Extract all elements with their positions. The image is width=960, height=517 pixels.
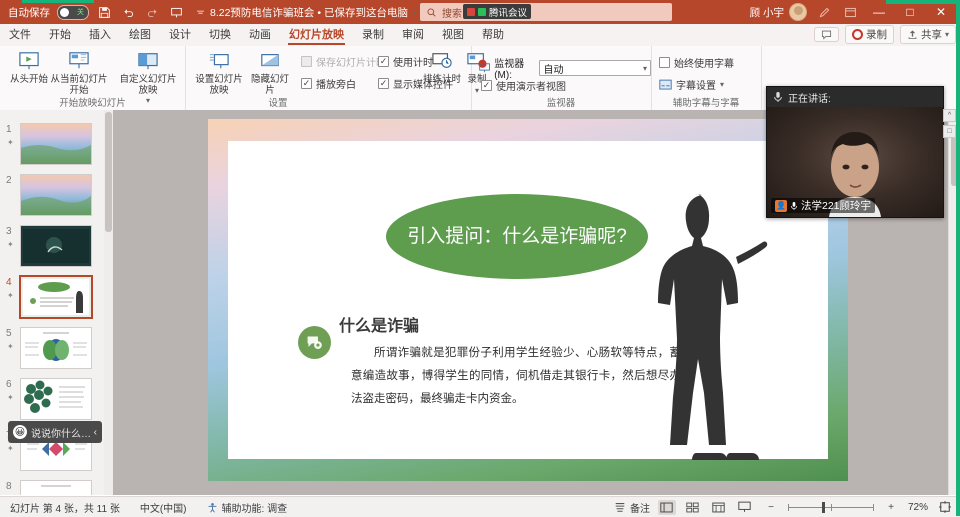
screen-share-border-top-left bbox=[22, 0, 94, 3]
animation-star-icon: ✦ bbox=[7, 444, 14, 453]
animation-star-icon: ✦ bbox=[7, 291, 14, 300]
search-placeholder: 搜索 bbox=[442, 5, 462, 20]
badge-square-red bbox=[467, 8, 475, 16]
zoom-level-label[interactable]: 72% bbox=[908, 502, 928, 513]
slide-thumbnail[interactable] bbox=[20, 225, 92, 267]
chat-bubble-icon bbox=[298, 326, 331, 359]
share-button[interactable]: 共享 ▾ bbox=[900, 25, 956, 44]
autosave-toggle[interactable]: 关 bbox=[57, 5, 89, 20]
zoom-slider[interactable] bbox=[788, 507, 874, 508]
slide-number: 5 bbox=[6, 328, 12, 339]
animation-star-icon: ✦ bbox=[7, 342, 14, 351]
video-conference-panel[interactable]: 正在讲话: 👤 法学221顾玲宇 ^ □ bbox=[766, 86, 944, 218]
caption-settings-label: 字幕设置 bbox=[676, 77, 716, 92]
share-button-label: 共享 bbox=[921, 27, 942, 42]
slide-number: 1 bbox=[6, 124, 12, 135]
reading-view-icon[interactable] bbox=[710, 500, 728, 515]
tab-home[interactable]: 开始 bbox=[40, 24, 80, 46]
record-dot-icon bbox=[852, 29, 863, 40]
status-bar-right: 备注 − + 72% bbox=[614, 500, 954, 515]
collapse-icon[interactable]: ^ bbox=[943, 109, 956, 122]
save-timings-checkbox[interactable] bbox=[301, 56, 312, 67]
play-from-start-button[interactable]: 从头开始 bbox=[6, 49, 52, 86]
slide-number: 2 bbox=[6, 175, 12, 186]
badge-label: 腾讯会议 bbox=[489, 5, 527, 19]
tab-insert[interactable]: 插入 bbox=[80, 24, 120, 46]
microphone-icon bbox=[773, 91, 783, 103]
zoom-in-button[interactable]: + bbox=[882, 500, 900, 515]
custom-slideshow-label: 自定义幻灯片放映 bbox=[117, 75, 179, 96]
ribbon-tabs-right: 录制 共享 ▾ bbox=[814, 25, 956, 44]
user-name: 顾 小宇 bbox=[750, 5, 784, 20]
play-narrations-checkbox[interactable] bbox=[301, 78, 312, 89]
caption-settings-button[interactable]: 字幕设置 ▾ bbox=[659, 77, 724, 92]
slide-body-text: 所谓诈骗就是犯罪份子利用学生经验少、心肠软等特点，蓄意编造故事，博得学生的同情，… bbox=[351, 342, 681, 411]
tab-record[interactable]: 录制 bbox=[353, 24, 393, 46]
group-label-setup: 设置 bbox=[135, 95, 421, 109]
slide-number: 4 bbox=[6, 277, 12, 288]
comment-icon[interactable] bbox=[814, 27, 839, 42]
autosave-label: 自动保存 bbox=[8, 5, 50, 20]
record-button-label: 录制 bbox=[866, 27, 887, 42]
search-icon bbox=[426, 7, 437, 18]
monitor-value: 自动 bbox=[543, 61, 563, 76]
checkbox-presenter-view[interactable]: 使用演示者视图 bbox=[481, 78, 566, 93]
accessibility-icon bbox=[207, 502, 218, 513]
tab-design[interactable]: 设计 bbox=[160, 24, 200, 46]
expand-icon[interactable]: □ bbox=[943, 125, 956, 138]
presenter-view-checkbox[interactable] bbox=[481, 80, 492, 91]
slide-title-text: 引入提问：什么是诈骗呢? bbox=[407, 225, 627, 249]
slide-sorter-icon[interactable] bbox=[684, 500, 702, 515]
screen-share-border-top-right bbox=[886, 0, 960, 4]
slide-number: 3 bbox=[6, 226, 12, 237]
show-media-controls-checkbox[interactable] bbox=[378, 78, 389, 89]
caption-settings-chevron-down-icon[interactable]: ▾ bbox=[720, 80, 724, 89]
ribbon-tabs: 文件 开始 插入 绘图 设计 切换 动画 幻灯片放映 录制 审阅 视图 帮助 录… bbox=[0, 24, 960, 46]
setup-slideshow-label: 设置幻灯片放映 bbox=[193, 75, 245, 96]
tab-review[interactable]: 审阅 bbox=[393, 24, 433, 46]
title-bar: 自动保存 关 8.22预防电信诈骗班会 • 已保存到这台电脑 bbox=[0, 0, 960, 24]
slide-title-shape[interactable]: 引入提问：什么是诈骗呢? bbox=[386, 194, 648, 279]
slide-number: 6 bbox=[6, 379, 12, 390]
slide-thumbnail[interactable] bbox=[20, 378, 92, 420]
play-from-current-icon bbox=[50, 49, 108, 73]
play-from-current-button[interactable]: 从当前幻灯片开始 bbox=[50, 49, 108, 96]
badge-square-green bbox=[478, 8, 486, 16]
monitor-icon bbox=[479, 62, 490, 74]
normal-view-icon[interactable] bbox=[658, 500, 676, 515]
play-from-start-icon bbox=[6, 49, 52, 73]
slide-thumbnail-selected[interactable] bbox=[19, 275, 93, 319]
slide-thumbnail[interactable] bbox=[20, 123, 92, 165]
accessibility-label: 辅助功能: 调查 bbox=[222, 500, 288, 515]
accessibility-status[interactable]: 辅助功能: 调查 bbox=[197, 500, 298, 515]
participant-name-badge: 👤 法学221顾玲宇 bbox=[771, 198, 875, 213]
tencent-meeting-badge: 腾讯会议 bbox=[463, 4, 531, 19]
use-timings-label: 使用计时 bbox=[393, 54, 433, 69]
present-icon[interactable] bbox=[168, 4, 185, 21]
list-item[interactable]: 6 ✦ bbox=[0, 377, 104, 427]
thumbnail-pane-scrollbar[interactable] bbox=[104, 110, 113, 495]
notes-label: 备注 bbox=[630, 500, 650, 515]
save-icon[interactable] bbox=[96, 4, 113, 21]
emoji-icon[interactable]: 😀 bbox=[13, 425, 27, 439]
checkbox-use-timings[interactable]: 使用计时 bbox=[378, 54, 433, 69]
play-from-start-label: 从头开始 bbox=[6, 75, 52, 86]
show-media-controls-label: 显示媒体控件 bbox=[393, 76, 453, 91]
ribbon-group-setup: 设置幻灯片放映 隐藏幻灯片 排练计时 录制 ▾ bbox=[185, 46, 472, 110]
powerpoint-window: 自动保存 关 8.22预防电信诈骗班会 • 已保存到这台电脑 bbox=[0, 0, 960, 516]
checkbox-always-use-subtitles[interactable]: 始终使用字幕 bbox=[659, 55, 734, 70]
tab-animations[interactable]: 动画 bbox=[240, 24, 280, 46]
avatar bbox=[789, 3, 807, 21]
use-timings-checkbox[interactable] bbox=[378, 56, 389, 67]
checkbox-play-narrations[interactable]: 播放旁白 bbox=[301, 76, 356, 91]
notes-icon bbox=[614, 501, 626, 513]
tab-transitions[interactable]: 切换 bbox=[200, 24, 240, 46]
monitor-chevron-down-icon[interactable]: ▾ bbox=[643, 64, 647, 73]
pill-text: 说说你什么… bbox=[31, 425, 90, 440]
checkbox-show-media-controls[interactable]: 显示媒体控件 bbox=[378, 76, 453, 91]
autosave-state: 关 bbox=[77, 7, 84, 17]
presenter-view-label: 使用演示者视图 bbox=[496, 78, 566, 93]
save-timings-label: 保存幻灯片计时 bbox=[316, 54, 386, 69]
silhouette-illustration bbox=[640, 183, 790, 473]
participant-badge-icon: 👤 bbox=[775, 200, 787, 212]
autosave-knob bbox=[60, 8, 69, 17]
document-title-area: 8.22预防电信诈骗班会 • 已保存到这台电脑 ▾ bbox=[210, 0, 417, 24]
video-panel-side-controls[interactable]: ^ □ bbox=[943, 109, 954, 138]
slide-thumbnail[interactable] bbox=[20, 327, 92, 369]
list-item[interactable]: 4 ✦ bbox=[0, 275, 104, 325]
status-bar: 幻灯片 第 4 张，共 11 张 中文(中国) 辅助功能: 调查 备注 − bbox=[0, 496, 960, 517]
slide-body-heading: 什么是诈骗 bbox=[339, 312, 419, 336]
undo-icon[interactable] bbox=[120, 4, 137, 21]
screen-share-border-right bbox=[956, 0, 960, 516]
ribbon-group-captions: 始终使用字幕 字幕设置 ▾ 辅助字幕与字幕 bbox=[651, 46, 762, 110]
always-use-subtitles-label: 始终使用字幕 bbox=[674, 55, 734, 70]
list-item[interactable]: 1 ✦ bbox=[0, 122, 104, 172]
zoom-out-button[interactable]: − bbox=[762, 500, 780, 515]
hide-slide-icon bbox=[248, 49, 292, 73]
redo-icon[interactable] bbox=[144, 4, 161, 21]
document-title: 8.22预防电信诈骗班会 • 已保存到这台电脑 bbox=[210, 5, 408, 20]
maximize-button[interactable]: □ bbox=[899, 1, 921, 23]
hide-slide-button[interactable]: 隐藏幻灯片 bbox=[248, 49, 292, 96]
fit-slide-icon[interactable] bbox=[936, 500, 954, 515]
more-icon[interactable] bbox=[192, 4, 209, 21]
meeting-reaction-pill[interactable]: 😀 说说你什么… ‹ bbox=[8, 421, 102, 443]
tab-slideshow[interactable]: 幻灯片放映 bbox=[280, 24, 353, 46]
microphone-icon bbox=[790, 201, 798, 211]
tab-draw[interactable]: 绘图 bbox=[120, 24, 160, 46]
notes-button[interactable]: 备注 bbox=[614, 500, 650, 515]
chevron-left-icon[interactable]: ‹ bbox=[94, 427, 97, 438]
scrollbar-thumb[interactable] bbox=[105, 112, 112, 232]
slide-count-status[interactable]: 幻灯片 第 4 张，共 11 张 bbox=[0, 500, 130, 515]
speaking-status: 正在讲话: bbox=[788, 90, 831, 105]
record-button[interactable]: 录制 bbox=[845, 25, 894, 44]
tab-view[interactable]: 视图 bbox=[433, 24, 473, 46]
monitor-select[interactable]: 自动 ▾ bbox=[539, 60, 651, 76]
close-button[interactable]: ✕ bbox=[930, 1, 952, 23]
hide-slide-label: 隐藏幻灯片 bbox=[248, 75, 292, 96]
always-use-subtitles-checkbox[interactable] bbox=[659, 57, 670, 68]
animation-star-icon: ✦ bbox=[7, 240, 14, 249]
setup-slideshow-button[interactable]: 设置幻灯片放映 bbox=[193, 49, 245, 96]
slideshow-icon[interactable] bbox=[736, 500, 754, 515]
setup-slideshow-icon bbox=[193, 49, 245, 73]
list-item[interactable]: 5 ✦ bbox=[0, 326, 104, 376]
group-label-monitor: 监视器 bbox=[471, 95, 651, 109]
slide-thumbnail[interactable] bbox=[20, 174, 92, 216]
video-feed[interactable]: 👤 法学221顾玲宇 bbox=[767, 107, 943, 217]
participant-name: 法学221顾玲宇 bbox=[801, 198, 871, 213]
play-narrations-label: 播放旁白 bbox=[316, 76, 356, 91]
custom-slideshow-icon bbox=[117, 49, 179, 73]
current-slide[interactable]: 引入提问：什么是诈骗呢? 什么是诈骗 所谓诈骗就是犯罪份子利用学生经验少、心肠软… bbox=[208, 119, 848, 481]
slide-number: 8 bbox=[6, 481, 12, 492]
animation-star-icon: ✦ bbox=[7, 393, 14, 402]
video-panel-header: 正在讲话: bbox=[767, 87, 943, 107]
caption-settings-icon bbox=[659, 79, 672, 91]
tab-help[interactable]: 帮助 bbox=[473, 24, 513, 46]
play-from-current-label: 从当前幻灯片开始 bbox=[50, 75, 108, 96]
pen-icon[interactable] bbox=[816, 4, 833, 21]
search-box[interactable]: 搜索 bbox=[420, 3, 672, 21]
slide-thumbnail[interactable] bbox=[20, 480, 92, 495]
list-item[interactable]: 2 bbox=[0, 173, 104, 223]
ribbon-group-monitor: 监视器(M): 自动 ▾ 使用演示者视图 监视器 bbox=[471, 46, 652, 110]
group-label-captions: 辅助字幕与字幕 bbox=[651, 95, 761, 109]
quick-access-toolbar: 自动保存 关 bbox=[0, 4, 209, 21]
list-item[interactable]: 8 bbox=[0, 479, 104, 495]
share-chevron-down-icon[interactable]: ▾ bbox=[945, 30, 949, 39]
ribbon-display-options-icon[interactable] bbox=[842, 4, 859, 21]
zoom-slider-handle[interactable] bbox=[822, 502, 825, 513]
user-account[interactable]: 顾 小宇 bbox=[750, 3, 807, 21]
title-chevron-down-icon[interactable]: ▾ bbox=[413, 8, 417, 17]
tab-file[interactable]: 文件 bbox=[0, 24, 40, 46]
checkbox-save-timings[interactable]: 保存幻灯片计时 bbox=[301, 54, 386, 69]
animation-star-icon: ✦ bbox=[7, 138, 14, 147]
list-item[interactable]: 3 ✦ bbox=[0, 224, 104, 274]
minimize-button[interactable]: — bbox=[868, 1, 890, 23]
language-status[interactable]: 中文(中国) bbox=[130, 500, 197, 515]
